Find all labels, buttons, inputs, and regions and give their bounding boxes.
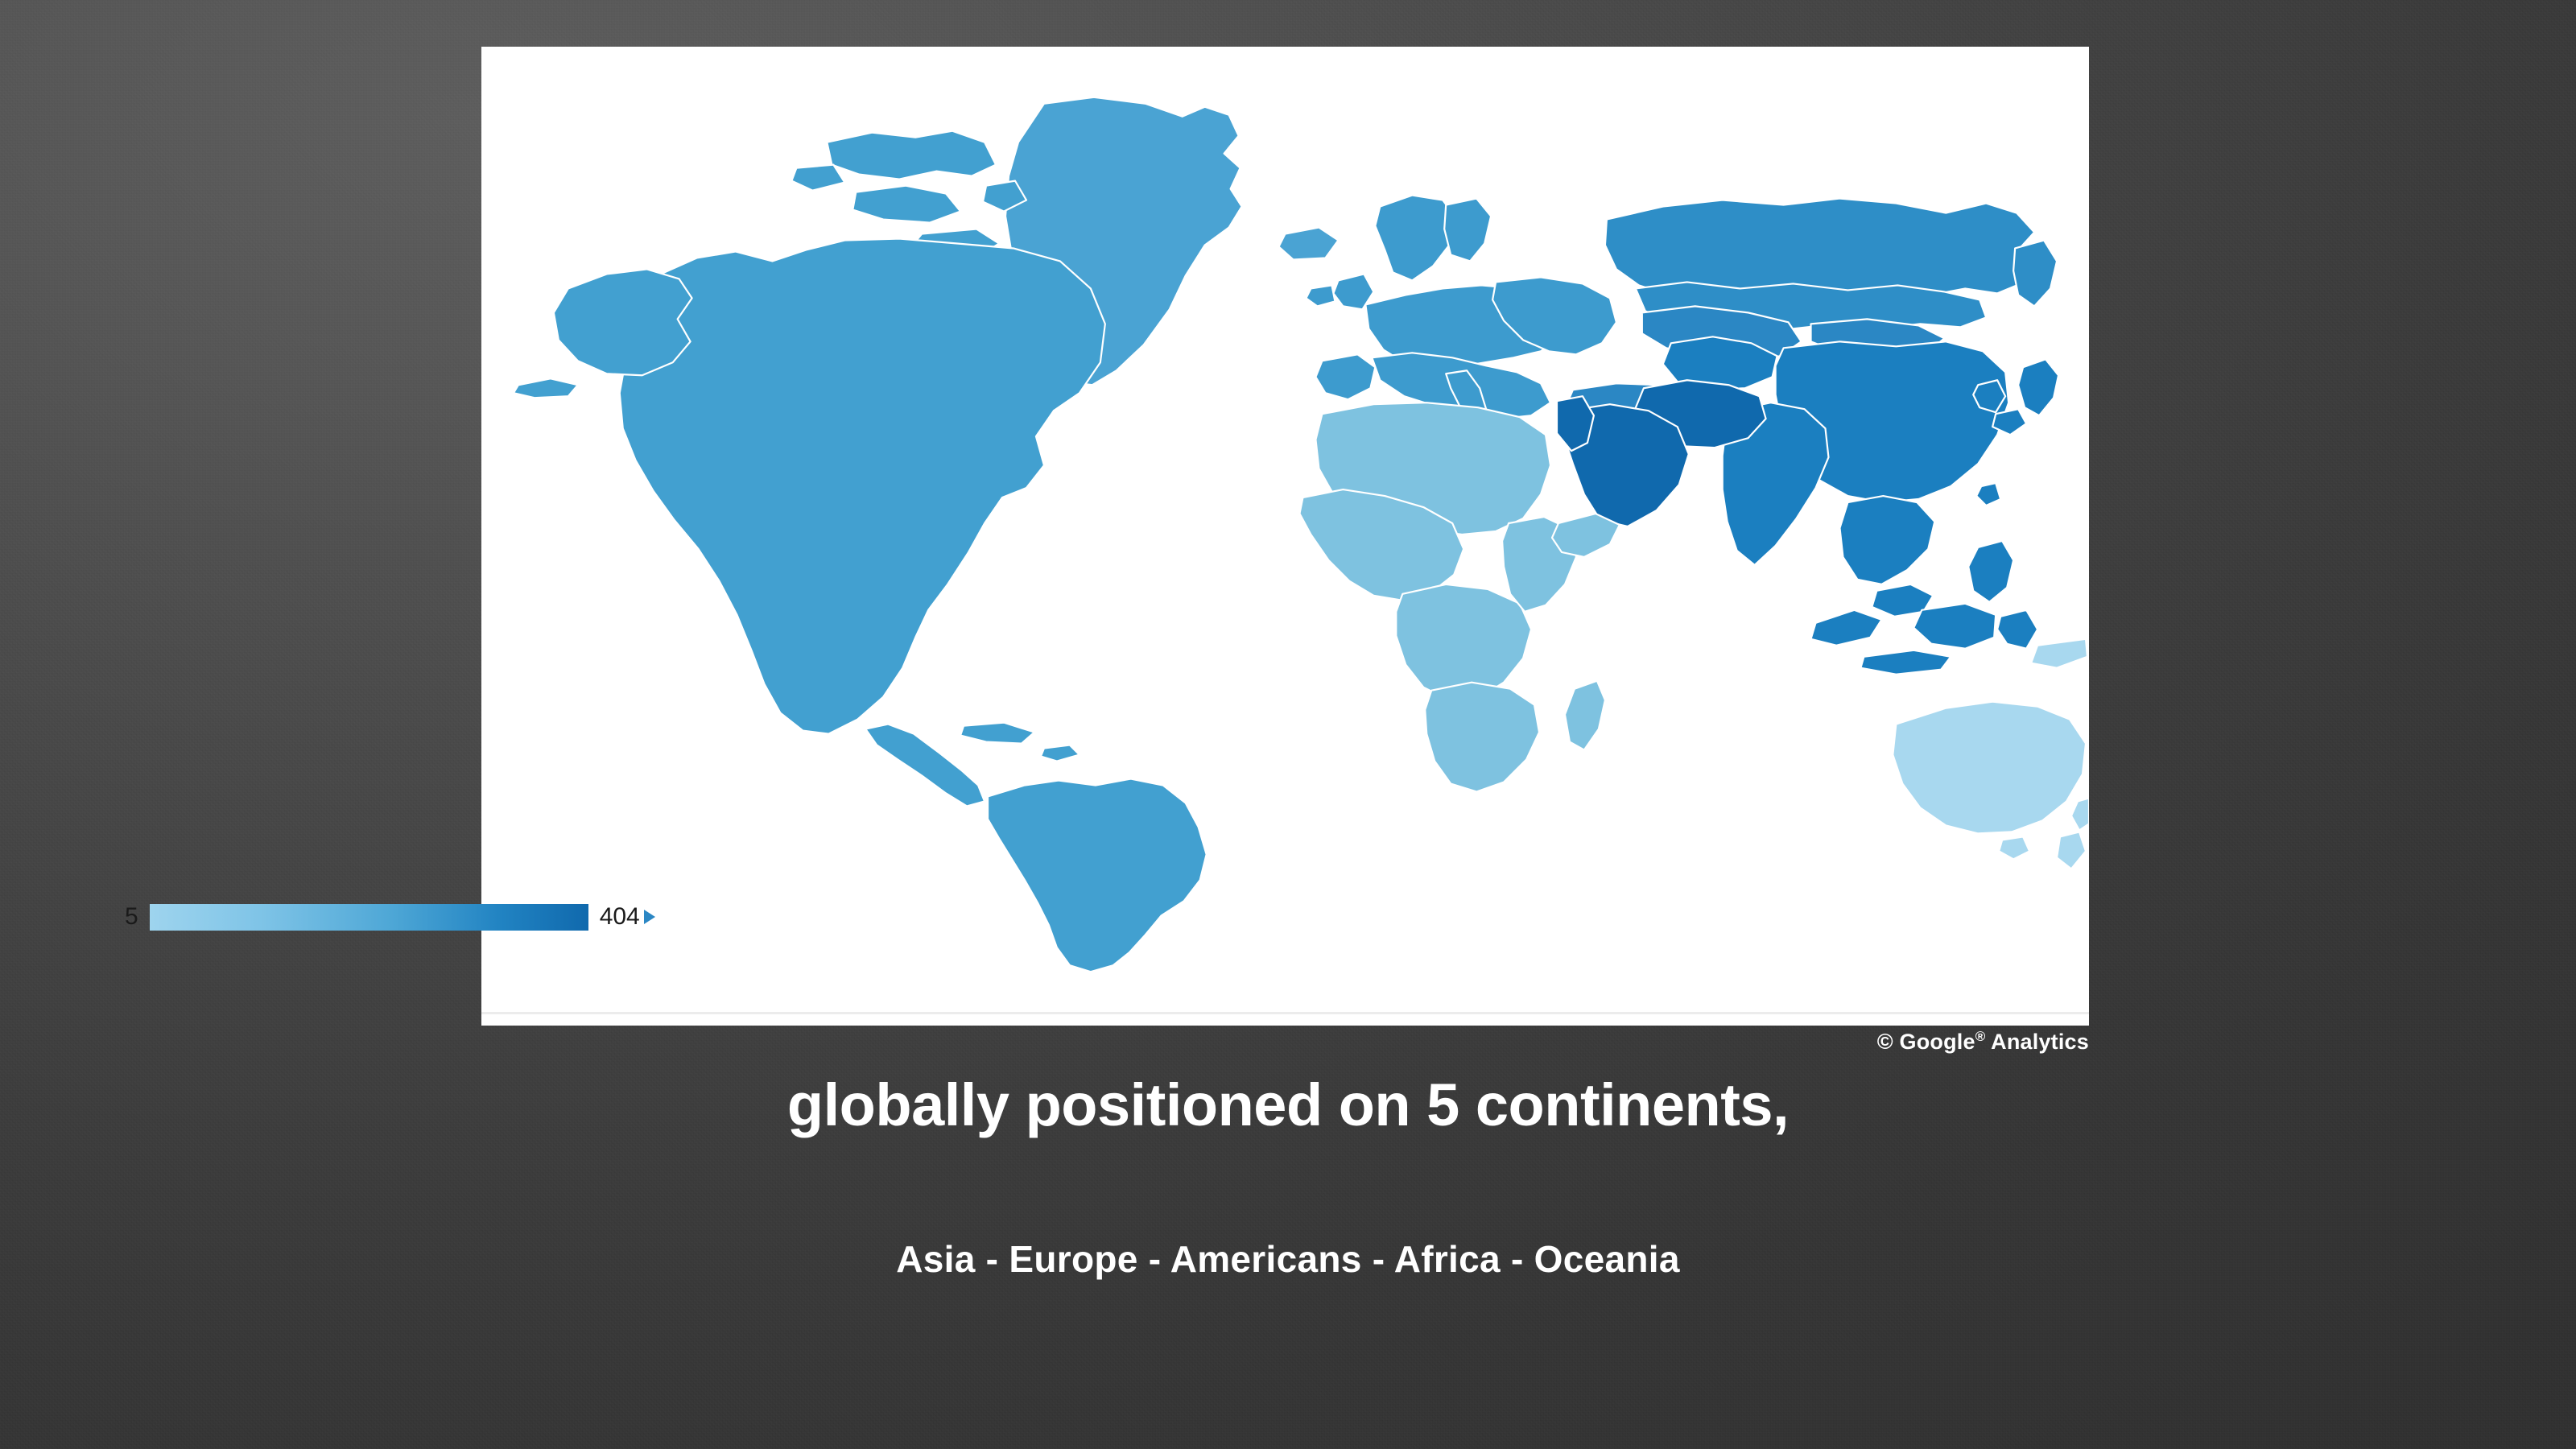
region-sumatra [1811, 610, 1882, 646]
region-canadian-arctic [827, 131, 996, 180]
region-horn-of-africa [1552, 514, 1620, 557]
map-value-legend: 5 404 [125, 895, 655, 939]
region-north-america [620, 239, 1105, 734]
region-arctic-island-1 [852, 186, 960, 223]
region-iberia [1315, 354, 1375, 399]
region-south-america [988, 779, 1207, 972]
region-levant [1557, 396, 1594, 451]
region-ireland [1306, 285, 1335, 306]
region-new-guinea [2031, 639, 2087, 668]
legend-overflow-arrow-icon [644, 910, 655, 924]
attribution-brand: Google [1900, 1030, 1975, 1054]
region-russia [1605, 199, 2039, 295]
region-finland [1444, 199, 1491, 262]
slide-canvas: 5 404 © Google® Analytics globally posit… [0, 0, 2576, 1449]
region-philippines [1968, 541, 2013, 602]
slide-headline: globally positioned on 5 continents, [0, 1071, 2576, 1139]
google-analytics-attribution: © Google® Analytics [1877, 1029, 2089, 1055]
slide-subline: Asia - Europe - Americans - Africa - Oce… [0, 1237, 2576, 1281]
region-japan [2018, 359, 2058, 415]
region-arctic-island-4 [791, 165, 844, 191]
region-southeast-asia [1839, 496, 1934, 584]
region-sulawesi [1997, 610, 2037, 649]
region-new-zealand-south [2057, 832, 2086, 869]
region-tasmania [1999, 836, 2029, 859]
region-central-africa [1396, 584, 1531, 700]
region-java [1860, 650, 1951, 675]
world-map-svg [481, 47, 2089, 980]
region-caribbean-cuba [960, 723, 1034, 744]
legend-gradient-bar [150, 904, 588, 931]
region-australia [1893, 702, 2086, 834]
region-caribbean-hispaniola [1041, 745, 1080, 762]
region-new-zealand-north [2071, 798, 2089, 830]
copyright-icon: © [1877, 1030, 1893, 1054]
region-southern-africa [1425, 683, 1539, 792]
world-map-panel [481, 47, 2089, 1026]
region-taiwan [1976, 483, 2000, 506]
region-kamchatka [2013, 241, 2057, 307]
region-borneo [1913, 604, 1996, 649]
region-iceland [1279, 228, 1339, 260]
legend-max-value: 404 [600, 905, 640, 929]
attribution-product: Analytics [1991, 1030, 2089, 1054]
world-map-graphic [481, 47, 2089, 980]
region-alaska [554, 269, 692, 375]
panel-bottom-divider [481, 1012, 2089, 1014]
registered-trademark-icon: ® [1975, 1029, 1986, 1044]
region-madagascar [1565, 681, 1605, 750]
region-aleutians [514, 378, 578, 398]
legend-min-value: 5 [125, 905, 138, 929]
